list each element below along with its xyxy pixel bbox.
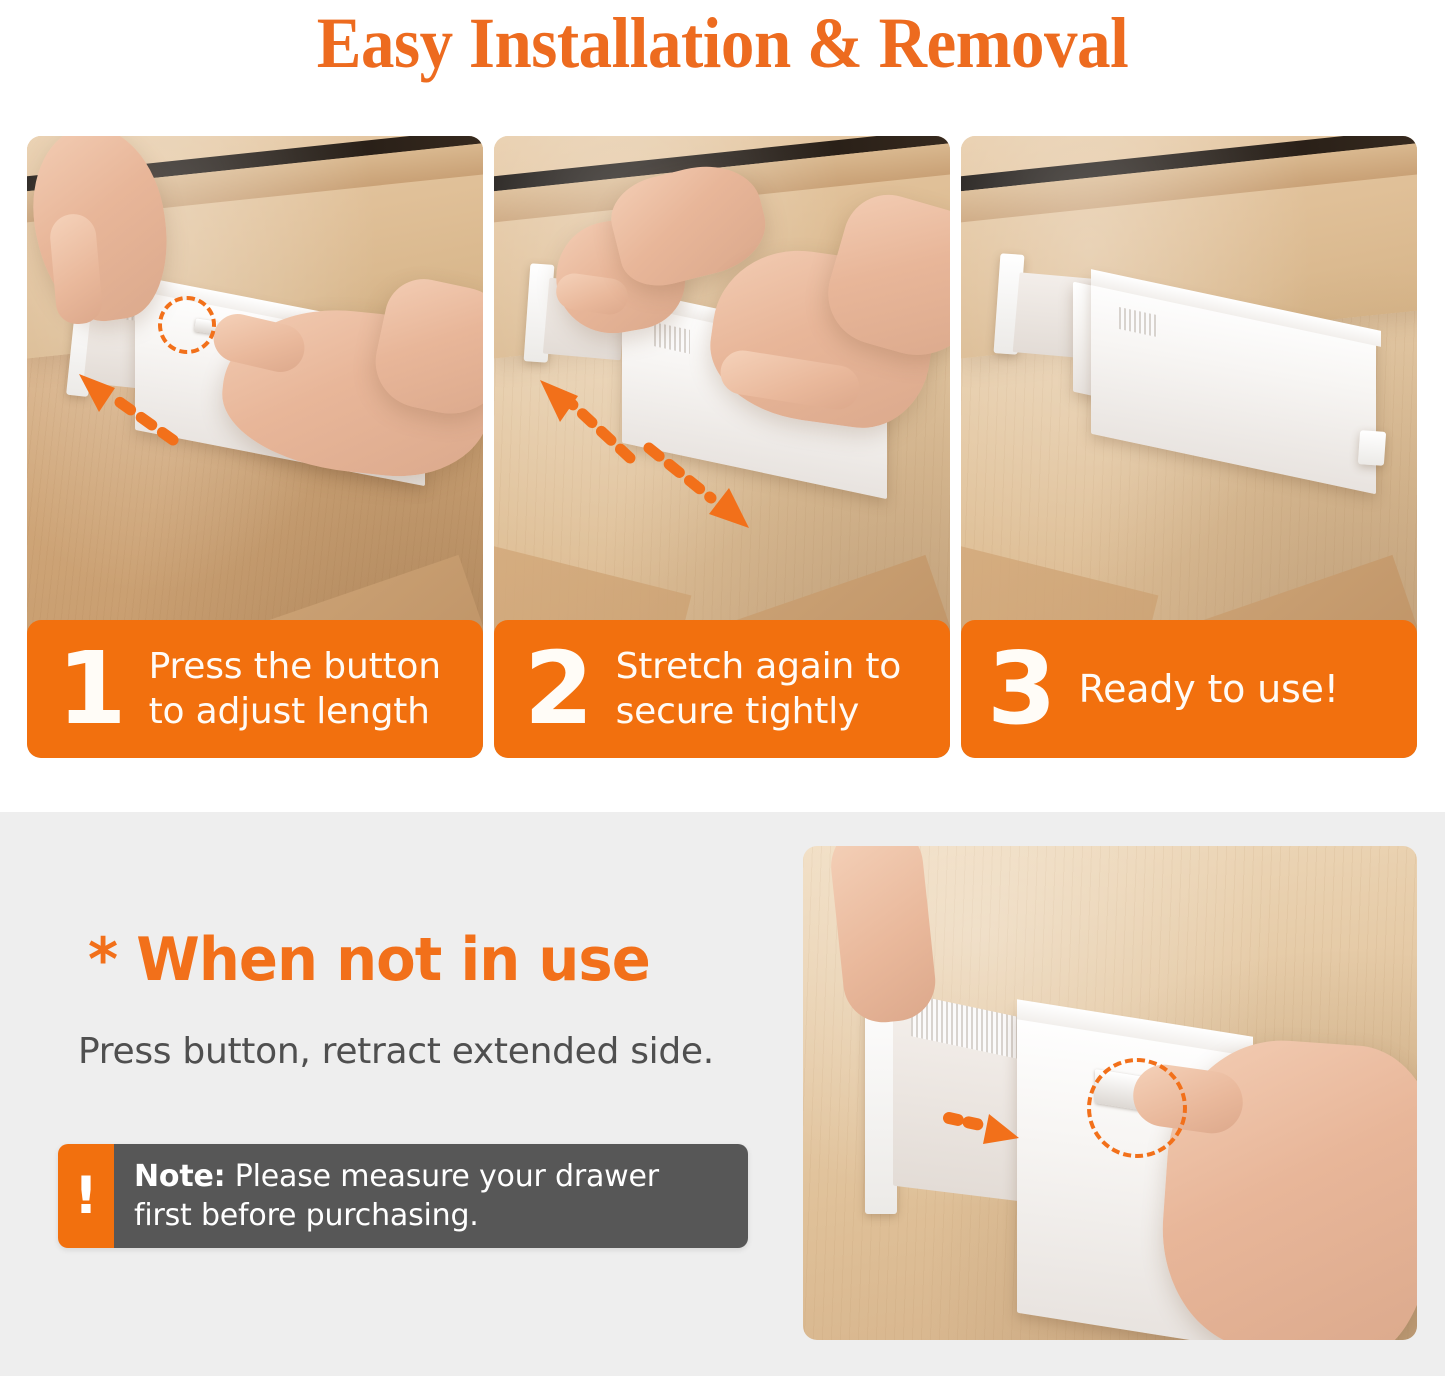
step-3-line-1: Ready to use! — [1079, 667, 1339, 712]
step-1-line-1: Press the button — [149, 644, 441, 689]
warning-badge: ! — [58, 1144, 114, 1248]
dashed-arrow-right-icon — [943, 1104, 1031, 1156]
dashed-circle-highlight-icon — [1087, 1058, 1187, 1158]
step-1-number: 1 — [57, 641, 127, 737]
note-text: Note: Please measure your drawer first b… — [134, 1157, 659, 1235]
step-panel-3: 3 Ready to use! — [961, 136, 1417, 758]
section-description: Press button, retract extended side. — [78, 1030, 714, 1074]
note-line-1-rest: Please measure your drawer — [225, 1159, 658, 1194]
dashed-arrow-up-left-icon — [524, 374, 654, 470]
exclamation-icon: ! — [74, 1170, 98, 1222]
note-body: Note: Please measure your drawer first b… — [114, 1144, 748, 1248]
dashed-circle-highlight-icon — [158, 296, 216, 354]
note-callout: ! Note: Please measure your drawer first… — [58, 1144, 748, 1248]
installation-section: Easy Installation & Removal — [0, 0, 1445, 812]
note-label: Note: — [134, 1159, 225, 1194]
dashed-arrow-left-icon — [63, 368, 203, 458]
note-line-2: first before purchasing. — [134, 1196, 659, 1235]
note-line-1: Note: Please measure your drawer — [134, 1157, 659, 1196]
steps-gallery: 1 Press the button to adjust length — [27, 136, 1418, 758]
bottom-copy-column: * When not in use Press button, retract … — [0, 812, 790, 1376]
page-title: Easy Installation & Removal — [51, 2, 1395, 84]
step-2-line-2: secure tightly — [616, 689, 901, 734]
when-not-in-use-section: * When not in use Press button, retract … — [0, 812, 1445, 1376]
dashed-arrow-down-right-icon — [639, 436, 774, 536]
step-3-number: 3 — [987, 641, 1057, 737]
step-1-caption: 1 Press the button to adjust length — [27, 620, 483, 758]
step-3-caption: 3 Ready to use! — [961, 620, 1417, 758]
step-3-text: Ready to use! — [1079, 667, 1339, 712]
step-panel-1: 1 Press the button to adjust length — [27, 136, 483, 758]
section-subheading: * When not in use — [88, 927, 650, 993]
divider-far-end-cap — [1358, 430, 1386, 466]
step-2-caption: 2 Stretch again to secure tightly — [494, 620, 950, 758]
retract-photo — [803, 846, 1417, 1340]
step-2-line-1: Stretch again to — [616, 644, 901, 689]
step-panel-2: 2 Stretch again to secure tightly — [494, 136, 950, 758]
step-2-number: 2 — [524, 641, 594, 737]
step-1-line-2: to adjust length — [149, 689, 441, 734]
step-2-text: Stretch again to secure tightly — [616, 644, 901, 734]
step-1-text: Press the button to adjust length — [149, 644, 441, 734]
